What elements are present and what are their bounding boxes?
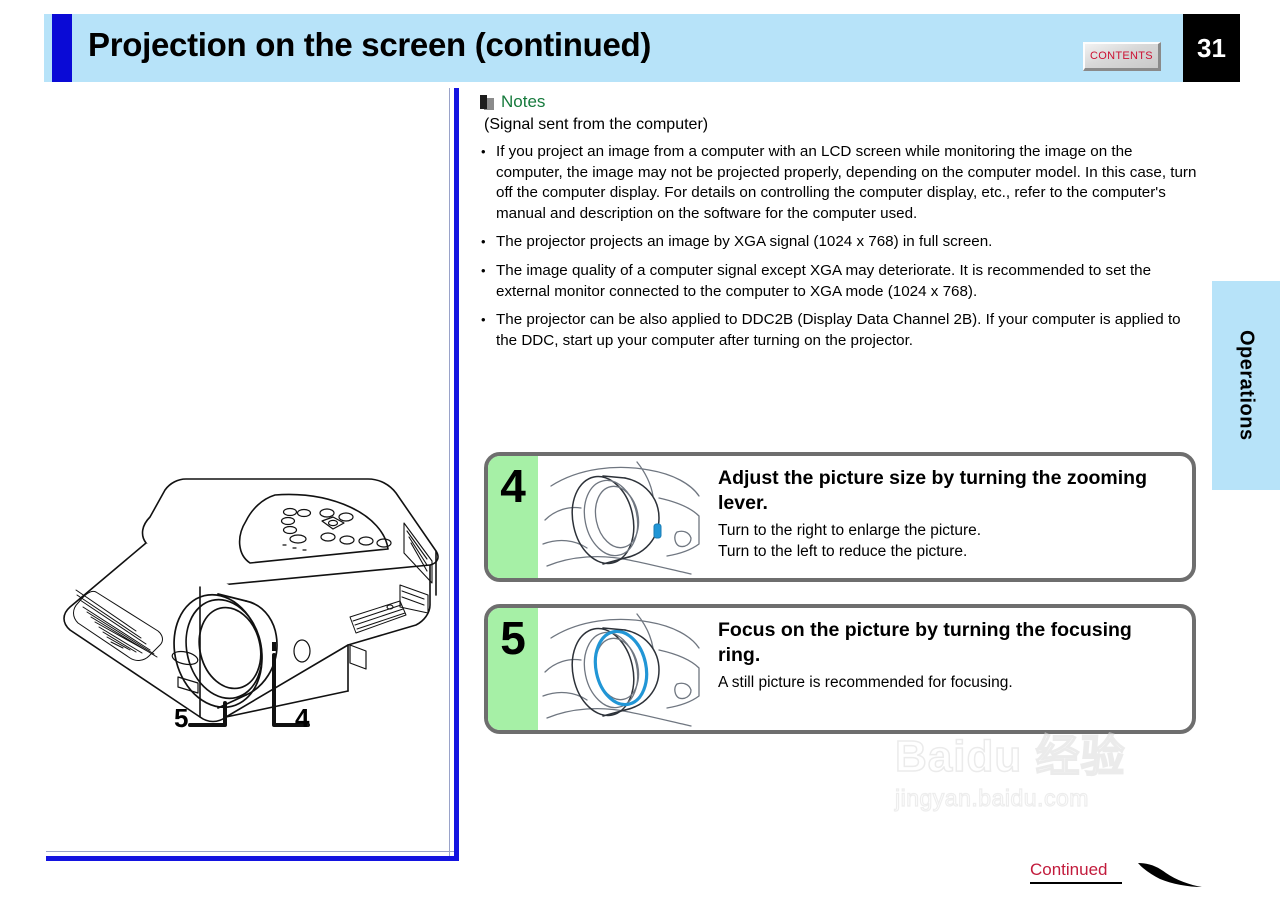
- callout-label-5: 5: [174, 703, 188, 734]
- header-blue-accent-bar: [52, 14, 72, 82]
- notes-section: Notes (Signal sent from the computer) If…: [480, 92, 1198, 359]
- step-body-line-1: A still picture is recommended for focus…: [718, 672, 1178, 693]
- page-number-value: 31: [1197, 33, 1226, 64]
- note-item: If you project an image from a computer …: [480, 142, 1198, 224]
- note-item: The projector projects an image by XGA s…: [480, 232, 1198, 253]
- step-heading: Adjust the picture size by turning the z…: [718, 466, 1178, 516]
- continued-arrow-icon: [1136, 857, 1204, 896]
- notes-subtitle: (Signal sent from the computer): [484, 116, 1198, 134]
- note-item: The projector can be also applied to DDC…: [480, 310, 1198, 351]
- step-body-line-2: Turn to the left to reduce the picture.: [718, 541, 1178, 562]
- step-box-5: 5 Focus on the picture by turning the fo…: [484, 604, 1196, 734]
- projector-illustration: [50, 455, 450, 750]
- panel-divider-thick-vertical: [454, 88, 459, 860]
- lens-zooming-lever-illustration: [538, 456, 706, 578]
- step-number-badge: 4: [488, 456, 538, 578]
- continued-label: Continued: [1030, 860, 1122, 884]
- contents-button-label: CONTENTS: [1090, 50, 1153, 62]
- step-heading: Focus on the picture by turning the focu…: [718, 618, 1178, 668]
- notes-title: Notes: [501, 92, 545, 112]
- step-text-block: Adjust the picture size by turning the z…: [706, 456, 1192, 578]
- panel-divider-thin-horizontal: [46, 851, 454, 852]
- page-number-badge: 31: [1183, 14, 1240, 82]
- step-number-value: 4: [500, 463, 526, 509]
- panel-divider-thick-horizontal: [46, 856, 459, 861]
- step-text-block: Focus on the picture by turning the focu…: [706, 608, 1192, 730]
- notes-header: Notes: [480, 92, 1198, 112]
- document-page: Projection on the screen (continued) CON…: [0, 0, 1280, 906]
- note-item: The image quality of a computer signal e…: [480, 261, 1198, 302]
- watermark-main-text: Baidu 经验: [895, 735, 1225, 779]
- baidu-watermark: Baidu 经验 jingyan.baidu.com: [895, 735, 1225, 812]
- section-tab-label: Operations: [1235, 330, 1258, 441]
- contents-button[interactable]: CONTENTS: [1083, 42, 1161, 71]
- lens-focusing-ring-illustration: [538, 608, 706, 730]
- page-title: Projection on the screen (continued): [88, 26, 651, 64]
- notes-squares-icon: [480, 95, 495, 110]
- watermark-sub-text: jingyan.baidu.com: [895, 785, 1225, 812]
- step-body-line-1: Turn to the right to enlarge the picture…: [718, 520, 1178, 541]
- section-tab-operations[interactable]: Operations: [1212, 281, 1280, 490]
- step-number-badge: 5: [488, 608, 538, 730]
- callout-label-4: 4: [295, 703, 309, 734]
- step-number-value: 5: [500, 615, 526, 661]
- step-box-4: 4 Adjust the picture size by turning the…: [484, 452, 1196, 582]
